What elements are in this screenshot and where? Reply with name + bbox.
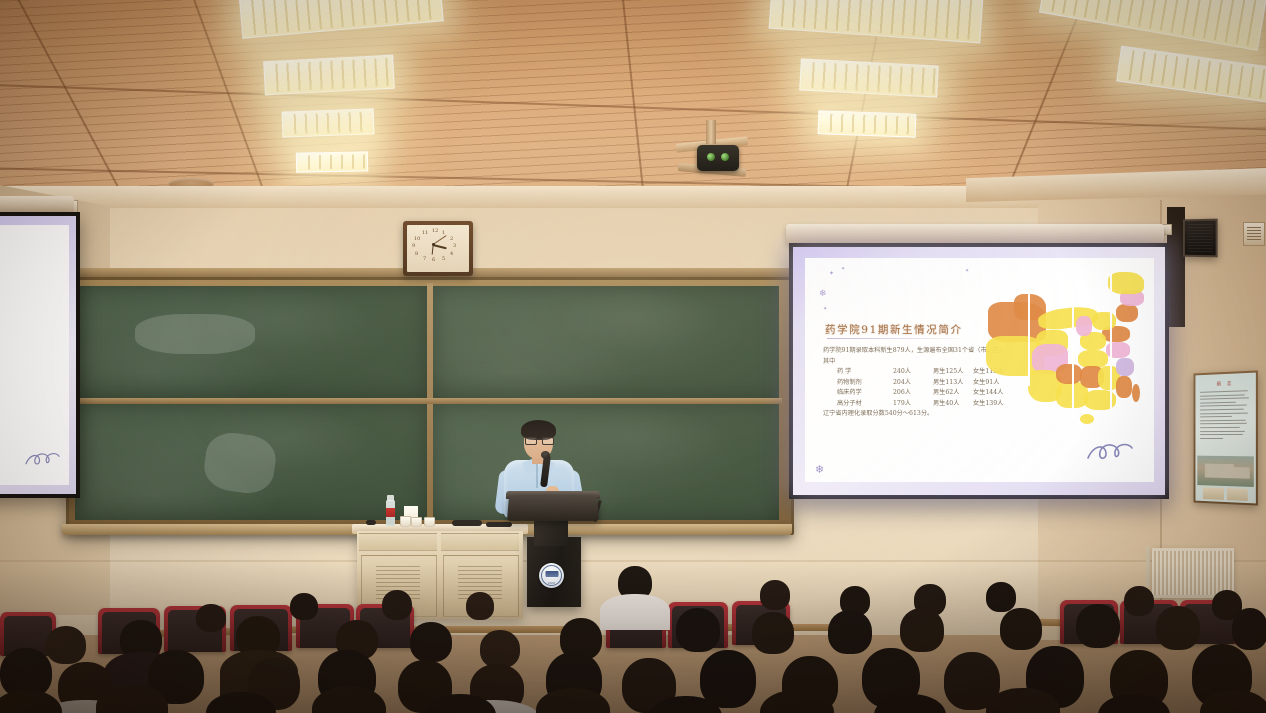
cable-coil (452, 520, 482, 526)
presenter-shirt-placket (536, 464, 538, 488)
chalk-smudge (201, 429, 278, 496)
audience-head (46, 626, 86, 664)
slide-stat-row: 药物制剂204人男生113人女生91人 (823, 378, 998, 389)
poster-card (1226, 488, 1247, 501)
map-region-zhejiang (1116, 358, 1134, 376)
clock-number: 2 (450, 236, 453, 242)
chalkboard-pane[interactable] (433, 286, 779, 398)
poster-title: 前 言 (1195, 380, 1255, 388)
podium-university-seal: CMU (539, 563, 564, 588)
audience-head (986, 582, 1016, 612)
butterfly-icon: ❄ (819, 288, 827, 299)
chalkboard-horizontal-divider (72, 398, 782, 404)
projector-lens-icon (707, 153, 715, 161)
swirl-decoration-icon (23, 449, 65, 471)
audience-head (900, 608, 944, 652)
chalkboard[interactable] (66, 277, 794, 535)
paper-cup[interactable] (424, 517, 435, 527)
map-region-shanxi (1076, 316, 1092, 336)
screen-left-slide (0, 225, 69, 485)
audience-shoulder (600, 594, 670, 630)
paper-cup[interactable] (400, 516, 411, 527)
audience-head (0, 690, 62, 713)
stat-male: 男生125人 (933, 367, 973, 378)
bottle-label (386, 508, 395, 517)
clock-number: 9 (412, 243, 415, 249)
clock-number: 11 (422, 230, 428, 236)
screen-right-surface: ❄ ✦ ✦ ✦ ❄ ✦ 药学院91期新生情况简介 药学院91期录取本科新生879… (793, 247, 1165, 495)
radiator-pipe (1146, 546, 1150, 586)
wall-speaker (1183, 219, 1218, 258)
audience-head (676, 608, 720, 652)
map-region-fujian (1116, 376, 1132, 398)
clock-minute-hand (431, 245, 433, 255)
speaker-grill-icon (1188, 224, 1213, 252)
clock-number: 5 (442, 256, 445, 262)
slide-body: 药学院91期录取本科新生879人，生源遍布全国31个省（市、区）。 其中 药 学… (823, 346, 998, 420)
leaf-icon: ✦ (829, 270, 834, 277)
audience-head (466, 592, 494, 620)
wall-clock: 12 1 2 3 4 5 6 7 8 9 10 11 (403, 221, 473, 276)
poster-surface: 前 言 (1195, 373, 1255, 504)
ceiling-light-panel (818, 110, 917, 137)
leaf-icon: ✦ (823, 306, 827, 312)
chalkboard-vertical-divider (427, 283, 433, 527)
clock-number: 8 (415, 251, 418, 257)
projector-ceiling-pole (706, 120, 716, 144)
audience-head (1076, 604, 1120, 648)
presentation-slide: ❄ ✦ ✦ ✦ ❄ ✦ 药学院91期新生情况简介 药学院91期录取本科新生879… (805, 258, 1154, 482)
clock-number: 7 (423, 256, 426, 262)
audience-head (290, 593, 318, 620)
clock-face: 12 1 2 3 4 5 6 7 8 9 10 11 (407, 225, 469, 272)
ac-vent-panel (1243, 222, 1265, 246)
audience-head (760, 580, 790, 610)
clock-number: 12 (432, 228, 438, 234)
swirl-decoration-icon (1084, 440, 1140, 466)
audience-head (1000, 608, 1042, 650)
podium-desktop[interactable] (507, 496, 599, 521)
butterfly-icon: ❄ (815, 463, 824, 476)
projection-screen-right[interactable]: ❄ ✦ ✦ ✦ ❄ ✦ 药学院91期新生情况简介 药学院91期录取本科新生879… (789, 243, 1169, 499)
wall-poster: 前 言 (1194, 370, 1258, 505)
clock-center-pin (432, 243, 435, 246)
stat-label: 临床药学 (837, 388, 893, 399)
seal-core-icon (545, 571, 558, 577)
china-map-left (0, 241, 48, 419)
poster-building-photo (1197, 456, 1254, 487)
stat-male: 男生40人 (933, 399, 973, 410)
stat-total: 179人 (893, 399, 933, 410)
poster-building-shape (1205, 464, 1234, 479)
map-region-liaoning (1116, 304, 1138, 322)
projector-lens-icon (721, 153, 729, 161)
poster-footer-cards (1203, 487, 1248, 501)
audience-head (752, 612, 794, 654)
screen-left-surface (0, 216, 76, 494)
glasses-bridge (535, 439, 542, 440)
clock-number: 10 (414, 236, 420, 242)
clock-number: 6 (432, 257, 435, 263)
clock-number: 4 (450, 251, 453, 257)
stat-label: 药物制剂 (837, 378, 893, 389)
stat-total: 206人 (893, 388, 933, 399)
audience-head (480, 630, 520, 668)
slide-body-line: 其中 (823, 357, 998, 368)
map-region-hainan (1080, 414, 1094, 424)
poster-building-shape (1232, 467, 1250, 479)
cable-coil (486, 522, 512, 527)
stat-label: 药 学 (837, 367, 893, 378)
poster-card (1203, 487, 1224, 500)
paper-cup[interactable] (411, 517, 422, 527)
ceiling-light-panel (296, 151, 368, 172)
slide-stat-row: 药 学240人男生125人女生115人 (823, 367, 998, 378)
audience-head (196, 604, 226, 632)
audience-head (382, 590, 412, 620)
screen-right-housing (786, 224, 1164, 244)
slide-footer: 辽宁省内理化录取分数540分～613分。 (823, 409, 998, 420)
slide-stat-row: 高分子材179人男生40人女生139人 (823, 399, 998, 410)
map-region-guizhou (1056, 364, 1082, 384)
cabinet-drawer[interactable] (359, 533, 437, 551)
stat-male: 男生113人 (933, 378, 973, 389)
chalkboard-pane[interactable] (75, 286, 427, 398)
projector (697, 145, 739, 171)
lecture-hall-photo: 12 1 2 3 4 5 6 7 8 9 10 11 ❄ ✦ ✦ ✦ (0, 0, 1266, 713)
glasses-right-lens (542, 437, 554, 445)
presenter-glasses-icon (525, 437, 552, 443)
audience-head (828, 610, 872, 654)
wall-seam (0, 560, 1266, 562)
map-seam (1110, 272, 1112, 412)
stat-male: 男生62人 (933, 388, 973, 399)
seal-text: CMU (539, 581, 564, 585)
map-seam (1028, 290, 1030, 386)
audience-head (1124, 586, 1154, 616)
map-region-hebei (1092, 312, 1116, 330)
cabinet-drawer[interactable] (441, 533, 519, 551)
audience-head (1156, 606, 1200, 650)
audience-head (410, 622, 452, 662)
stat-total: 204人 (893, 378, 933, 389)
slide-title-underline (827, 338, 962, 339)
clock-number: 3 (453, 243, 456, 249)
map-seam (1072, 294, 1074, 418)
ceiling-light-panel (263, 55, 395, 96)
presentation-remote[interactable] (366, 520, 376, 525)
china-map (984, 272, 1148, 448)
leaf-icon: ✦ (965, 268, 969, 274)
ceiling-light-panel (282, 108, 375, 137)
stat-label: 高分子材 (837, 399, 893, 410)
leaf-icon: ✦ (841, 266, 845, 272)
map-region-heilongjiang (1108, 272, 1144, 294)
slide-title: 药学院91期新生情况简介 (825, 322, 963, 337)
chalkboard-pane[interactable] (433, 404, 779, 520)
projection-screen-left (0, 212, 80, 498)
screen-left-housing (0, 196, 74, 213)
chalk-smudge (135, 314, 255, 354)
stat-total: 240人 (893, 367, 933, 378)
map-region-taiwan (1132, 384, 1140, 402)
slide-stat-row: 临床药学206人男生62人女生144人 (823, 388, 998, 399)
chalkboard-pane[interactable] (75, 404, 427, 520)
poster-text-block (1200, 390, 1251, 441)
slide-body-line: 药学院91期录取本科新生879人，生源遍布全国31个省（市、区）。 (823, 346, 998, 357)
audience-head (1232, 608, 1266, 650)
